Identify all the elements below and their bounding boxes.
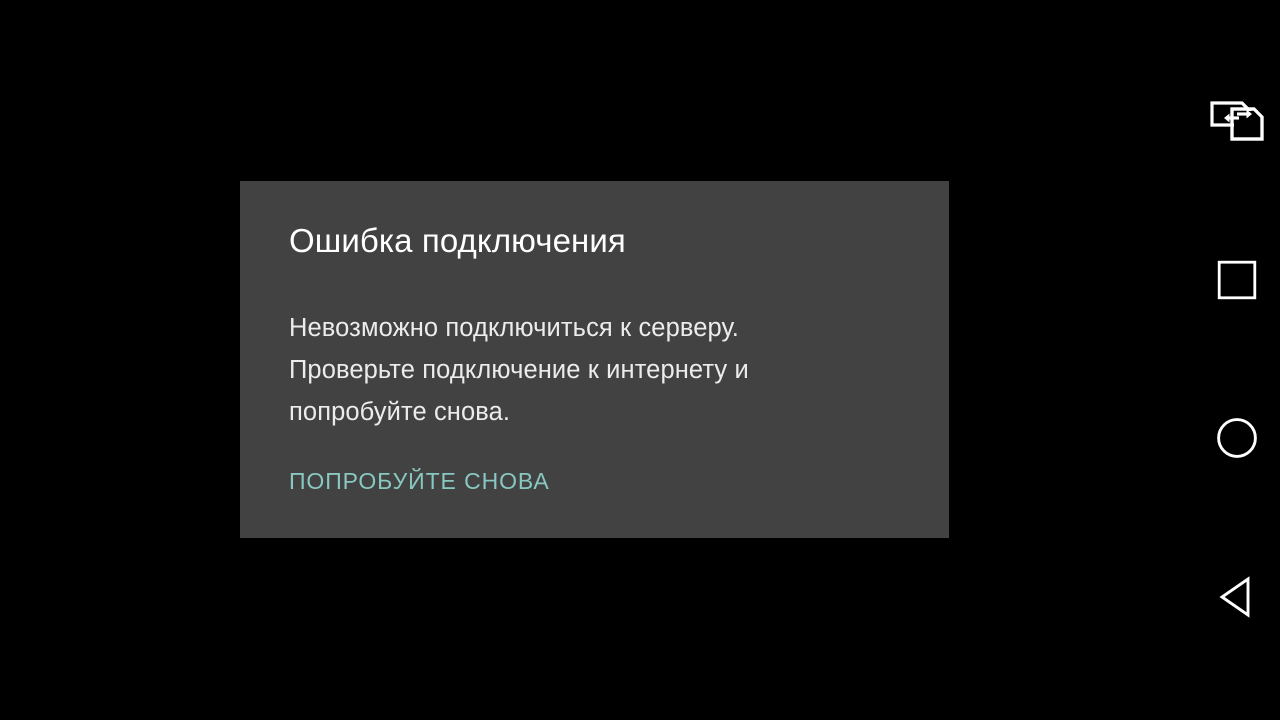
- dialog-message: Невозможно подключиться к серверу. Прове…: [289, 307, 909, 433]
- dialog-title: Ошибка подключения: [289, 221, 909, 261]
- nav-button-recents[interactable]: [1194, 242, 1280, 318]
- device-screen: Ошибка подключения Невозможно подключить…: [0, 0, 1280, 720]
- screen-rotation-icon: [1210, 100, 1264, 142]
- nav-button-back[interactable]: [1194, 559, 1280, 635]
- triangle-back-icon: [1216, 575, 1258, 619]
- nav-button-home[interactable]: [1194, 400, 1280, 476]
- nav-button-rotate[interactable]: [1194, 83, 1280, 159]
- circle-home-icon: [1216, 417, 1258, 459]
- dialog-action-bar: ПОПРОБУЙТЕ СНОВА: [289, 464, 550, 498]
- retry-button[interactable]: ПОПРОБУЙТЕ СНОВА: [289, 464, 550, 498]
- connection-error-dialog: Ошибка подключения Невозможно подключить…: [240, 181, 949, 538]
- dialog-message-line-2: Проверьте подключение к интернету и: [289, 349, 909, 391]
- square-recents-icon: [1217, 260, 1257, 300]
- system-navigation-bar: [1194, 0, 1280, 720]
- dialog-message-line-1: Невозможно подключиться к серверу.: [289, 307, 909, 349]
- dialog-message-line-3: попробуйте снова.: [289, 391, 909, 433]
